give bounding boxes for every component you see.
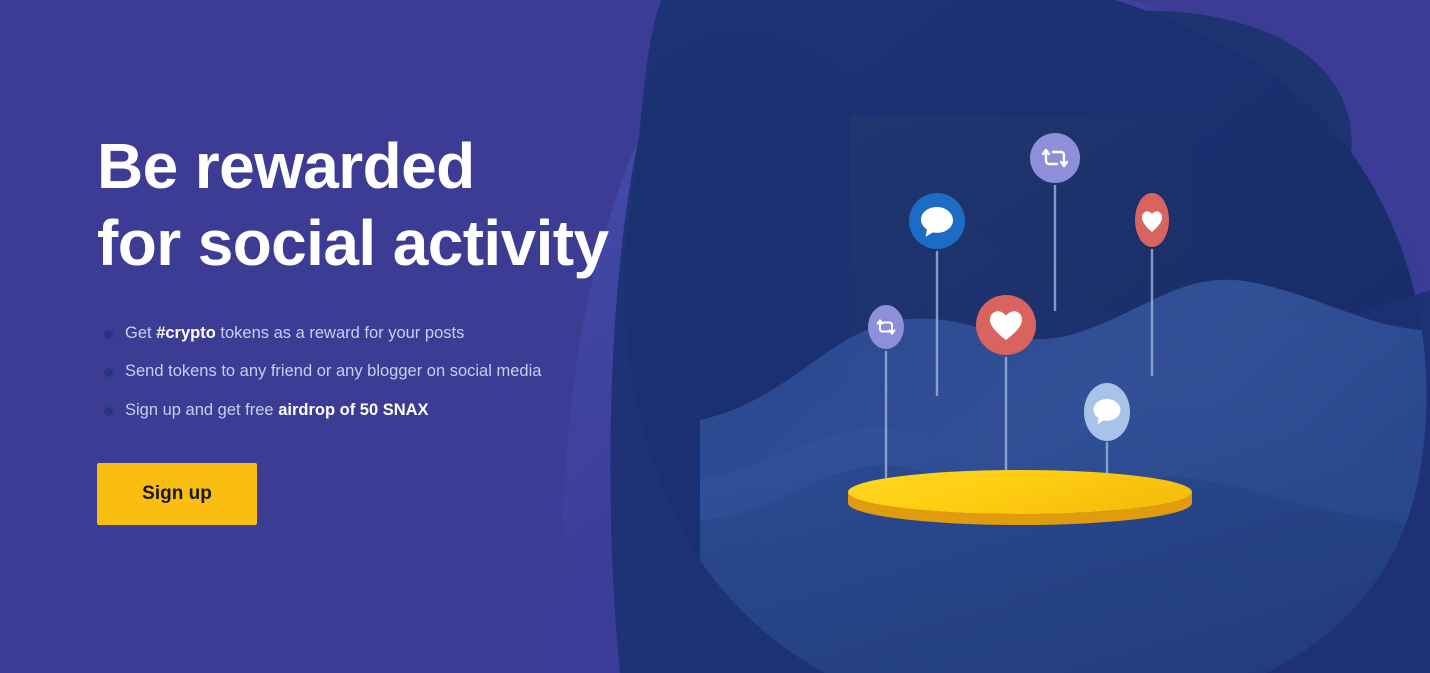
bullet-text-strong: airdrop of 50 SNAX — [278, 401, 428, 419]
platform-top — [848, 470, 1192, 514]
hero-section: Be rewarded for social activity Get #cry… — [0, 0, 1430, 673]
yellow-platform — [848, 470, 1192, 525]
list-item: Get #crypto tokens as a reward for your … — [97, 323, 717, 344]
bullet-dot — [104, 330, 113, 339]
retweet-pin-top[interactable] — [1030, 133, 1080, 183]
comment-pin-blue[interactable] — [909, 193, 965, 249]
bullet-text-pre: Sign up and get free — [125, 401, 278, 419]
hero-copy: Be rewarded for social activity Get #cry… — [97, 128, 717, 525]
bullet-text-pre: Get — [125, 324, 156, 342]
retweet-pin-small[interactable] — [868, 305, 904, 349]
bullet-text-pre: Send tokens to any friend or any blogger… — [125, 362, 541, 380]
heart-pin-small[interactable] — [1135, 193, 1169, 247]
bullet-dot — [104, 407, 113, 416]
bullet-text-post: tokens as a reward for your posts — [216, 324, 465, 342]
benefits-list: Get #crypto tokens as a reward for your … — [97, 323, 717, 421]
bullet-text-strong: #crypto — [156, 324, 216, 342]
comment-pin-light[interactable] — [1084, 383, 1130, 441]
list-item: Sign up and get free airdrop of 50 SNAX — [97, 400, 717, 421]
bullet-dot — [104, 368, 113, 377]
heart-pin-large[interactable] — [976, 295, 1036, 355]
page-title: Be rewarded for social activity — [97, 128, 717, 283]
list-item: Send tokens to any friend or any blogger… — [97, 361, 717, 382]
sign-up-button[interactable]: Sign up — [97, 463, 257, 525]
